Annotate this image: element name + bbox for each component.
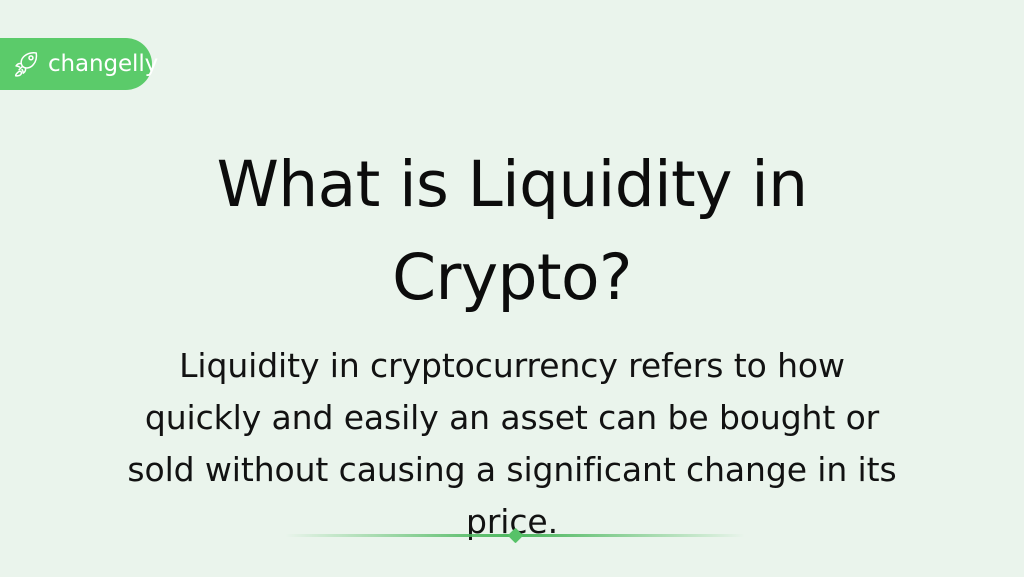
description-line-1: Liquidity in cryptocurrency refers to ho… [40,340,984,392]
decorative-divider [285,527,745,543]
logo-wordmark: changelly [48,53,158,76]
page-title: What is Liquidity in Crypto? [0,138,1024,324]
description-line-2: quickly and easily an asset can be bough… [40,392,984,444]
description-text: Liquidity in cryptocurrency refers to ho… [0,340,1024,548]
changelly-logo-badge[interactable]: changelly [0,38,152,90]
rocket-icon [11,49,41,79]
diamond-ornament-icon [507,527,523,543]
description-line-3: sold without causing a significant chang… [40,444,984,496]
page-title-line-2: Crypto? [60,231,964,324]
infographic-card: changelly What is Liquidity in Crypto? L… [0,0,1024,577]
page-title-line-1: What is Liquidity in [60,138,964,231]
